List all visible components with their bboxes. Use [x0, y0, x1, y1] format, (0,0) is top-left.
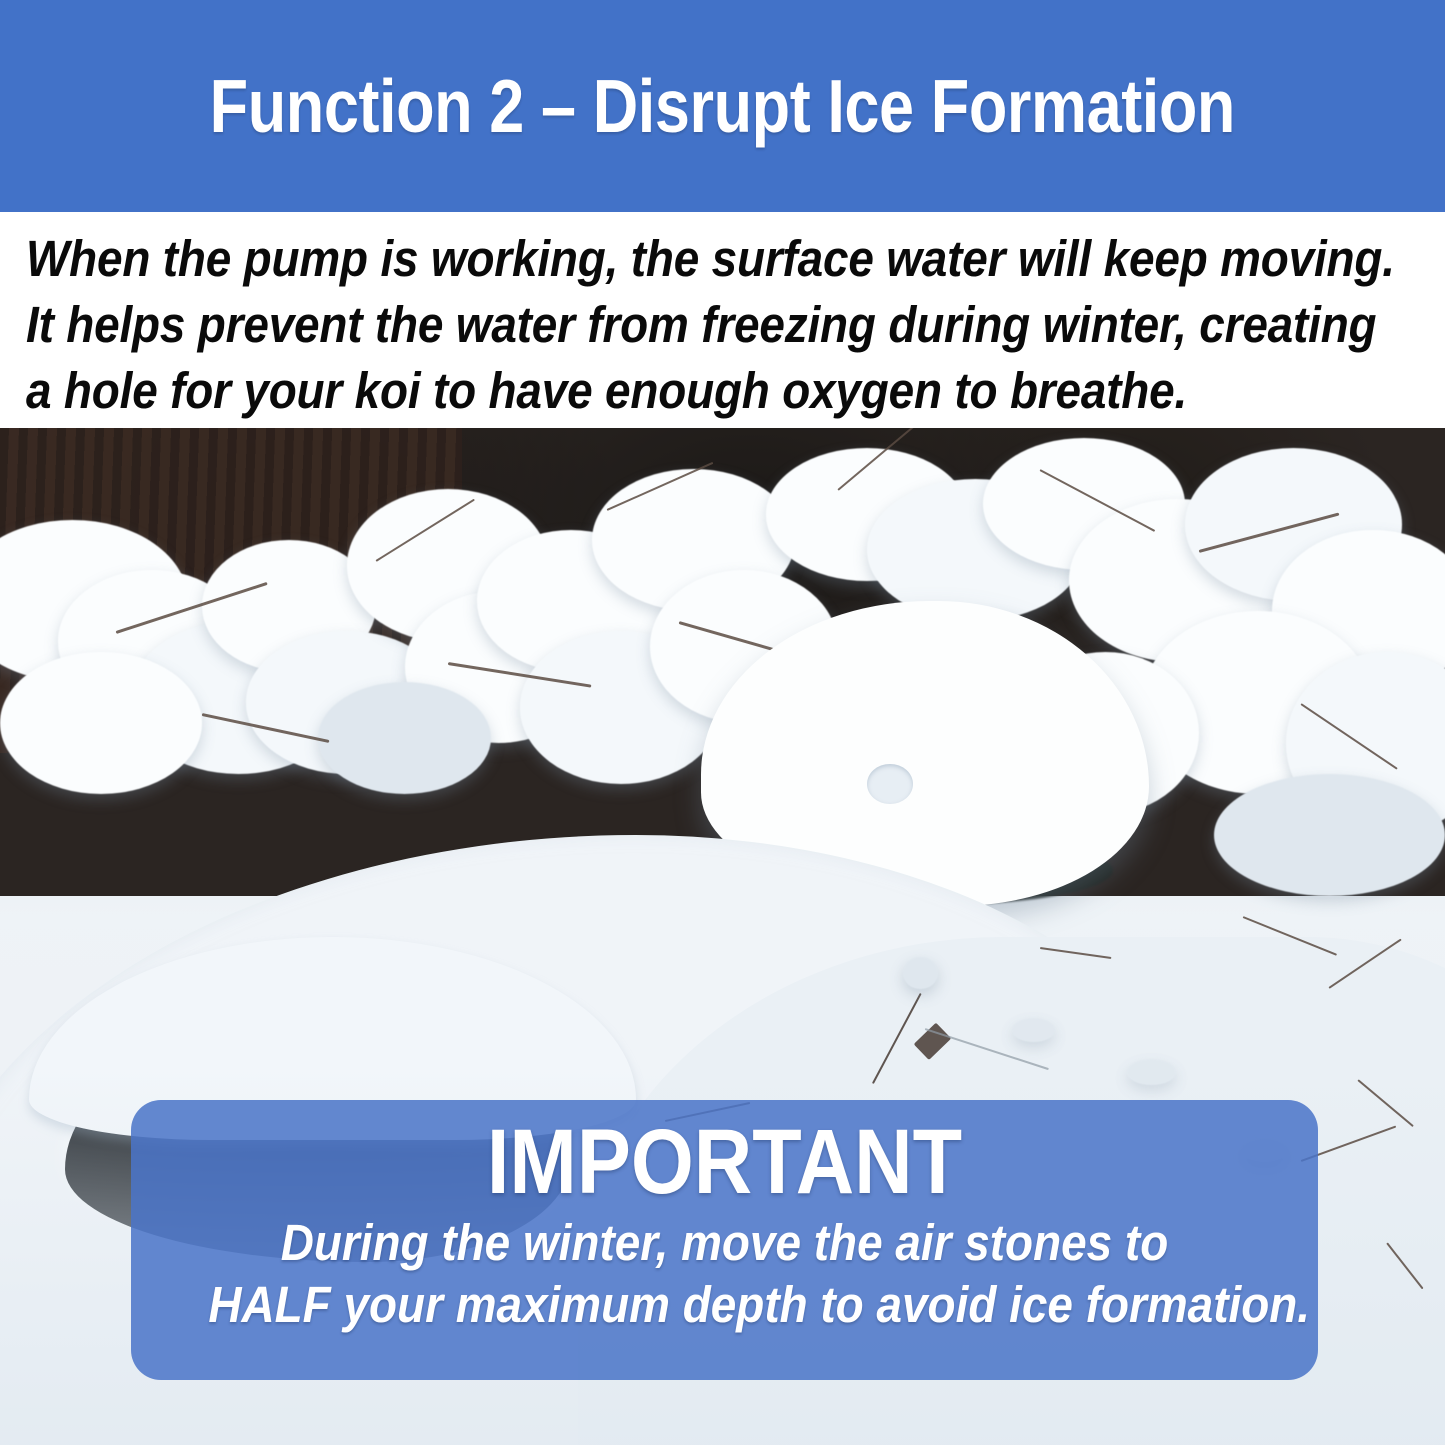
body-copy: When the pump is working, the surface wa…	[0, 212, 1445, 428]
snow-blob	[1214, 774, 1445, 896]
page-title: Function 2 – Disrupt Ice Formation	[210, 69, 1235, 144]
body-line: a hole for your koi to have enough oxyge…	[26, 358, 1280, 424]
body-line: When the pump is working, the surface wa…	[26, 226, 1280, 292]
snow-blob	[0, 652, 202, 794]
important-callout: IMPORTANT During the winter, move the ai…	[131, 1100, 1318, 1380]
body-line: It helps prevent the water from freezing…	[26, 292, 1280, 358]
callout-line: HALF your maximum depth to avoid ice for…	[208, 1274, 1240, 1336]
header-band: Function 2 – Disrupt Ice Formation	[0, 0, 1445, 212]
snow-tuft	[1127, 1059, 1176, 1085]
callout-line: During the winter, move the air stones t…	[208, 1212, 1240, 1274]
snow-dimple	[867, 764, 913, 805]
infographic-slide: Function 2 – Disrupt Ice Formation When …	[0, 0, 1445, 1445]
winter-pond-photo: IMPORTANT During the winter, move the ai…	[0, 428, 1445, 1445]
callout-title: IMPORTANT	[220, 1112, 1229, 1212]
snow-tuft	[1012, 1018, 1055, 1042]
snow-tuft	[903, 957, 938, 990]
snow-blob	[318, 682, 491, 794]
